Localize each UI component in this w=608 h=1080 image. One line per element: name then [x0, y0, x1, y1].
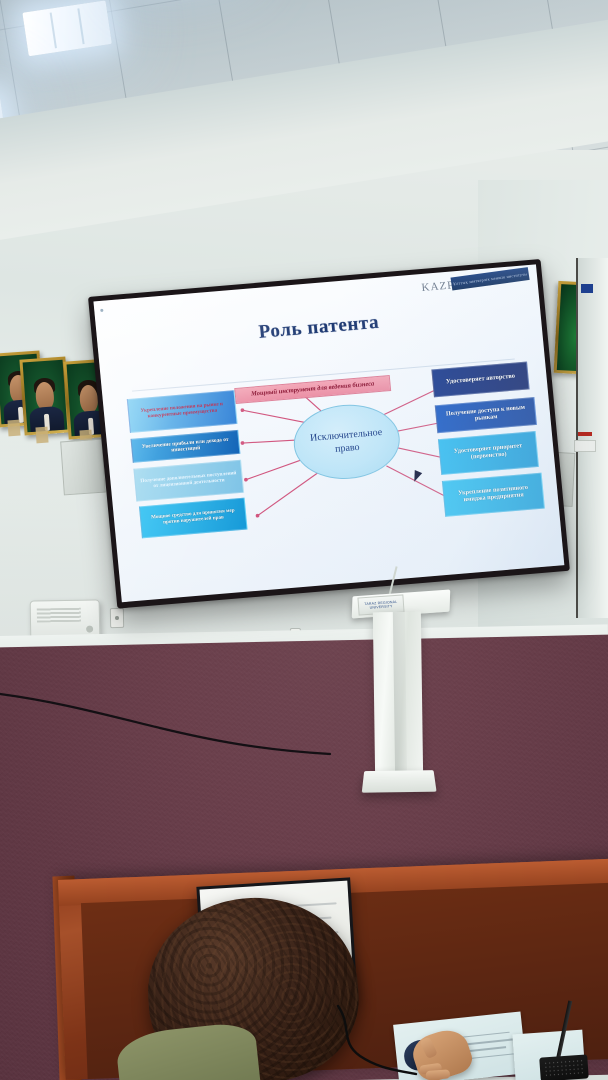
presentation-screen[interactable]: KAZPATENT Ұлттық зияткерлік меншік инсти…	[88, 259, 570, 609]
podium-base	[362, 770, 437, 793]
diagram-center-ellipse[interactable]: Исключительное право	[290, 401, 403, 484]
diagram-box-left-2[interactable]: Увеличение прибыли или дохода от инвести…	[131, 430, 241, 463]
diagram-box-right-1[interactable]: Удостоверяет авторство	[431, 361, 529, 397]
slide-content: KAZPATENT Ұлттық зияткерлік меншік инсти…	[93, 264, 564, 602]
wall-socket[interactable]	[110, 608, 124, 628]
diagram-box-right-4[interactable]: Укрепление позитивного имиджа предприяти…	[442, 473, 545, 517]
diagram-box-left-4[interactable]: Мощное средство для принятия мер против …	[139, 498, 248, 539]
heater-knob[interactable]	[86, 626, 93, 633]
desk-microphone-base[interactable]	[539, 1054, 589, 1080]
diagram-box-left-1[interactable]: Укрепление положения на рынке и конкурен…	[127, 390, 238, 433]
diagram-box-right-2[interactable]: Получение доступа к новым рынкам	[435, 397, 537, 433]
lecture-hall-scene: KAZPATENT Ұлттық зияткерлік меншік инсти…	[0, 0, 608, 1080]
door-sign	[581, 284, 593, 293]
wall-speaker	[60, 439, 106, 496]
portrait-bracket	[7, 420, 20, 437]
slide-title: Роль патента	[97, 298, 542, 357]
diagram-box-left-3[interactable]: Получение дополнительных поступлений от …	[133, 460, 244, 502]
center-label: Исключительное право	[309, 425, 384, 458]
portrait-bracket	[35, 427, 48, 444]
center-line-2: право	[335, 442, 360, 455]
kazpatent-logo: KAZPATENT Ұлттық зияткерлік меншік инсти…	[421, 269, 531, 300]
heater-vents	[37, 608, 81, 623]
wall-sign-red	[578, 432, 592, 436]
center-line-1: Исключительное	[310, 426, 383, 443]
side-door[interactable]	[576, 258, 608, 618]
mouse-pointer-icon	[411, 470, 423, 483]
diagram-box-right-3[interactable]: Удостоверяет приоритет (первенство)	[438, 431, 539, 475]
wall-sign	[574, 440, 596, 452]
screen-surface: KAZPATENT Ұлттық зияткерлік меншік инсти…	[93, 264, 564, 602]
podium-column	[373, 612, 423, 779]
